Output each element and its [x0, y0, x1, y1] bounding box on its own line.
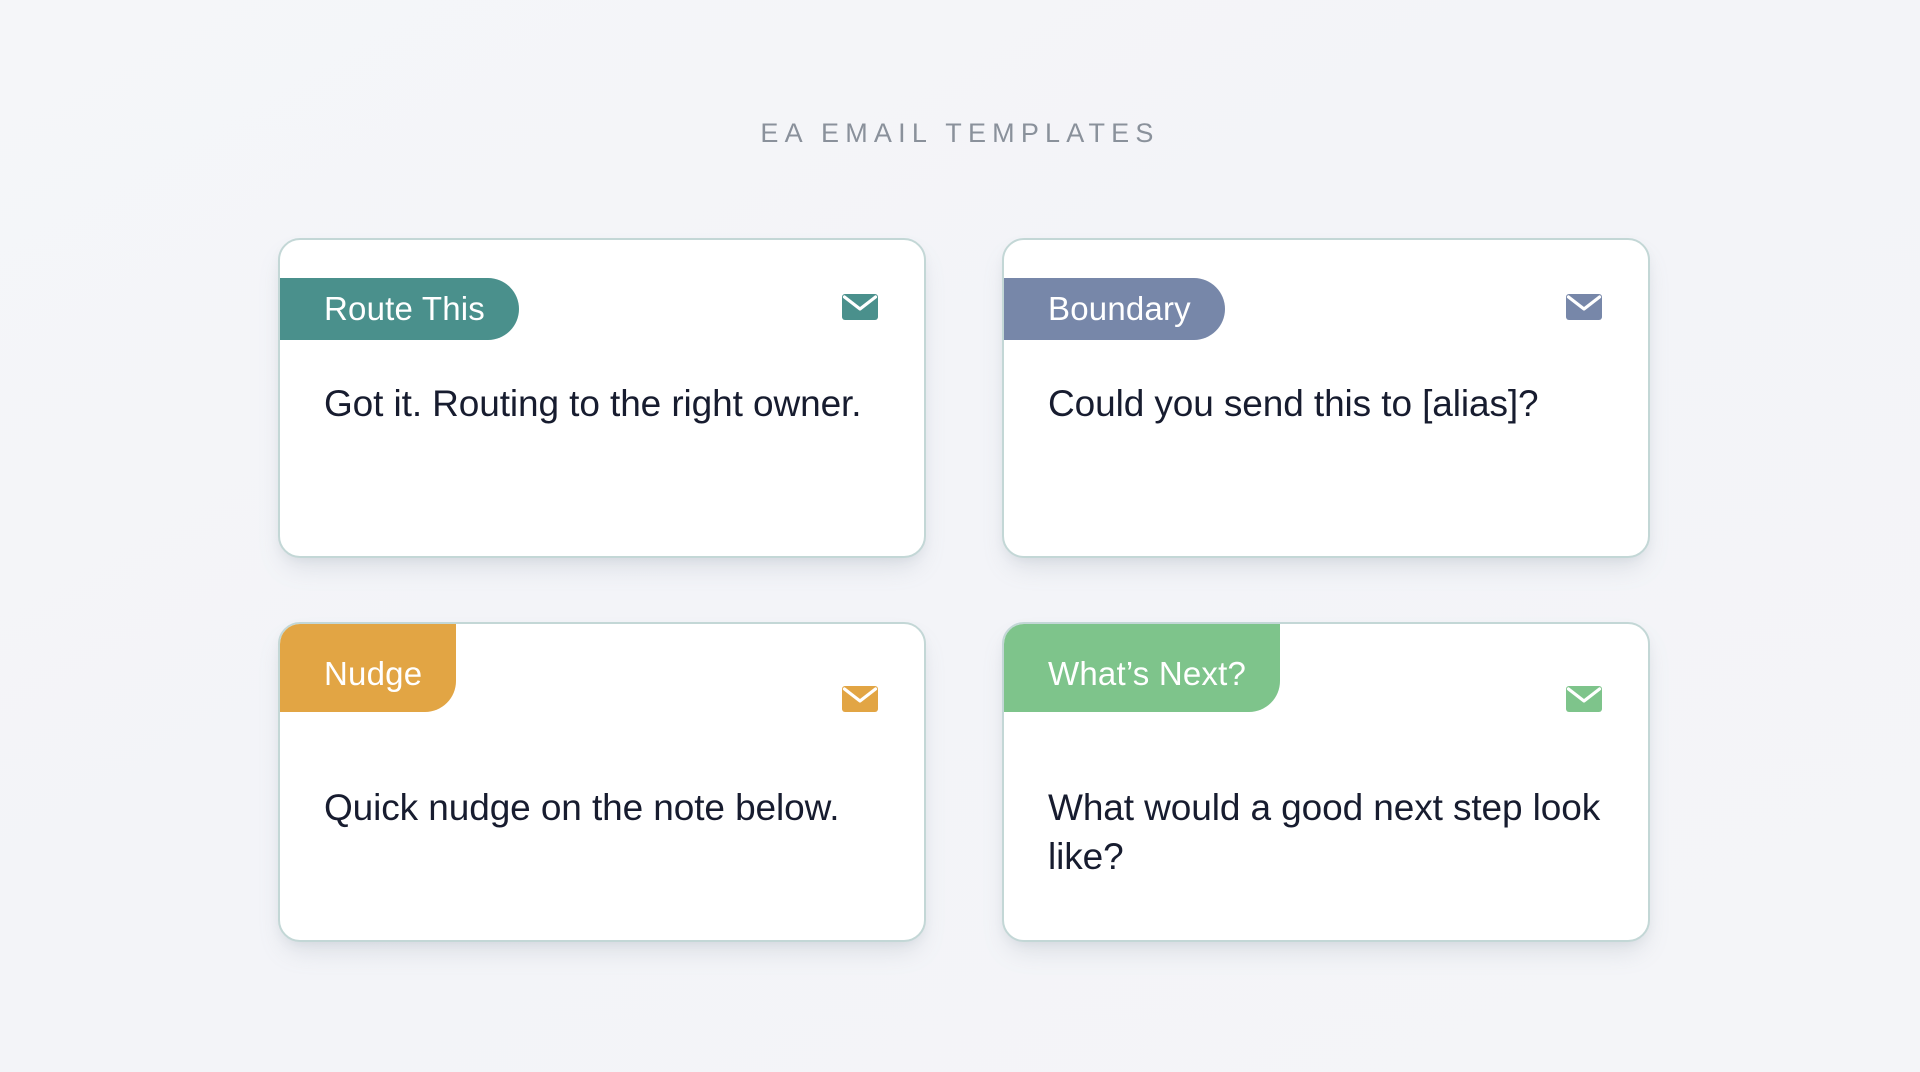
template-card-grid: Route This Got it. Routing to the right … — [278, 238, 1650, 942]
envelope-icon — [1566, 686, 1602, 712]
card-badge-boundary: Boundary — [1004, 278, 1225, 340]
card-badge-nudge: Nudge — [280, 624, 456, 712]
card-badge-whats-next: What’s Next? — [1004, 624, 1280, 712]
envelope-icon — [842, 294, 878, 320]
template-card-route-this[interactable]: Route This Got it. Routing to the right … — [278, 238, 926, 558]
template-gallery-page: EA EMAIL TEMPLATES Route This Got it. Ro… — [0, 0, 1920, 1072]
card-body-nudge: Quick nudge on the note below. — [324, 784, 884, 833]
card-body-boundary: Could you send this to [alias]? — [1048, 380, 1608, 429]
page-title: EA EMAIL TEMPLATES — [0, 118, 1920, 149]
envelope-icon — [1566, 294, 1602, 320]
template-card-nudge[interactable]: Nudge Quick nudge on the note below. — [278, 622, 926, 942]
card-body-whats-next: What would a good next step look like? — [1048, 784, 1608, 882]
card-body-route-this: Got it. Routing to the right owner. — [324, 380, 884, 429]
template-card-boundary[interactable]: Boundary Could you send this to [alias]? — [1002, 238, 1650, 558]
template-card-whats-next[interactable]: What’s Next? What would a good next step… — [1002, 622, 1650, 942]
envelope-icon — [842, 686, 878, 712]
card-badge-route-this: Route This — [280, 278, 519, 340]
